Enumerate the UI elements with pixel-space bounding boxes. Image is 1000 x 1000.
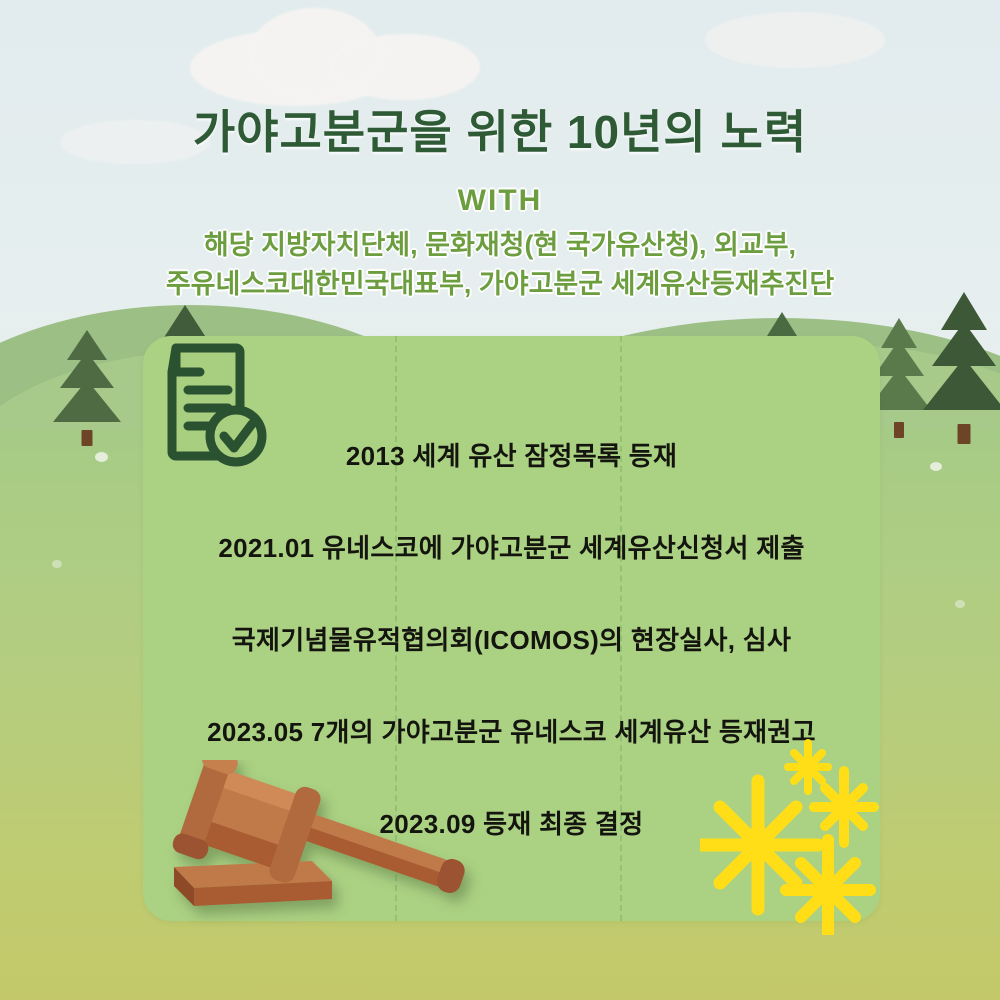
timeline-item: 2021.01 유네스코에 가야고분군 세계유산신청서 제출 <box>143 500 880 592</box>
sparkle-stars-icon <box>700 735 910 935</box>
page-title: 가야고분군을 위한 10년의 노력 <box>0 96 1000 162</box>
partners-line-2: 주유네스코대한민국대표부, 가야고분군 세계유산등재추진단 <box>0 265 1000 304</box>
gavel-icon <box>160 760 500 935</box>
ground-speck <box>930 462 942 471</box>
ground-speck <box>95 452 108 462</box>
timeline-item-text: 2021.01 유네스코에 가야고분군 세계유산신청서 제출 <box>218 528 804 565</box>
timeline-item-text: 국제기념물유적협의회(ICOMOS)의 현장실사, 심사 <box>232 620 791 657</box>
poster-header: 가야고분군을 위한 10년의 노력 WITH 해당 지방자치단체, 문화재청(현… <box>0 0 1000 304</box>
ground-speck <box>52 560 62 568</box>
ground-speck <box>955 600 965 608</box>
partners-line-1: 해당 지방자치단체, 문화재청(현 국가유산청), 외교부, <box>0 226 1000 265</box>
timeline-item: 국제기념물유적협의회(ICOMOS)의 현장실사, 심사 <box>143 592 880 684</box>
with-label: WITH <box>0 184 1000 218</box>
document-check-icon <box>140 332 280 472</box>
timeline-item-text: 2013 세계 유산 잠정목록 등재 <box>346 436 677 473</box>
pine-tree-icon <box>918 292 1000 444</box>
pine-tree-icon <box>48 330 126 446</box>
